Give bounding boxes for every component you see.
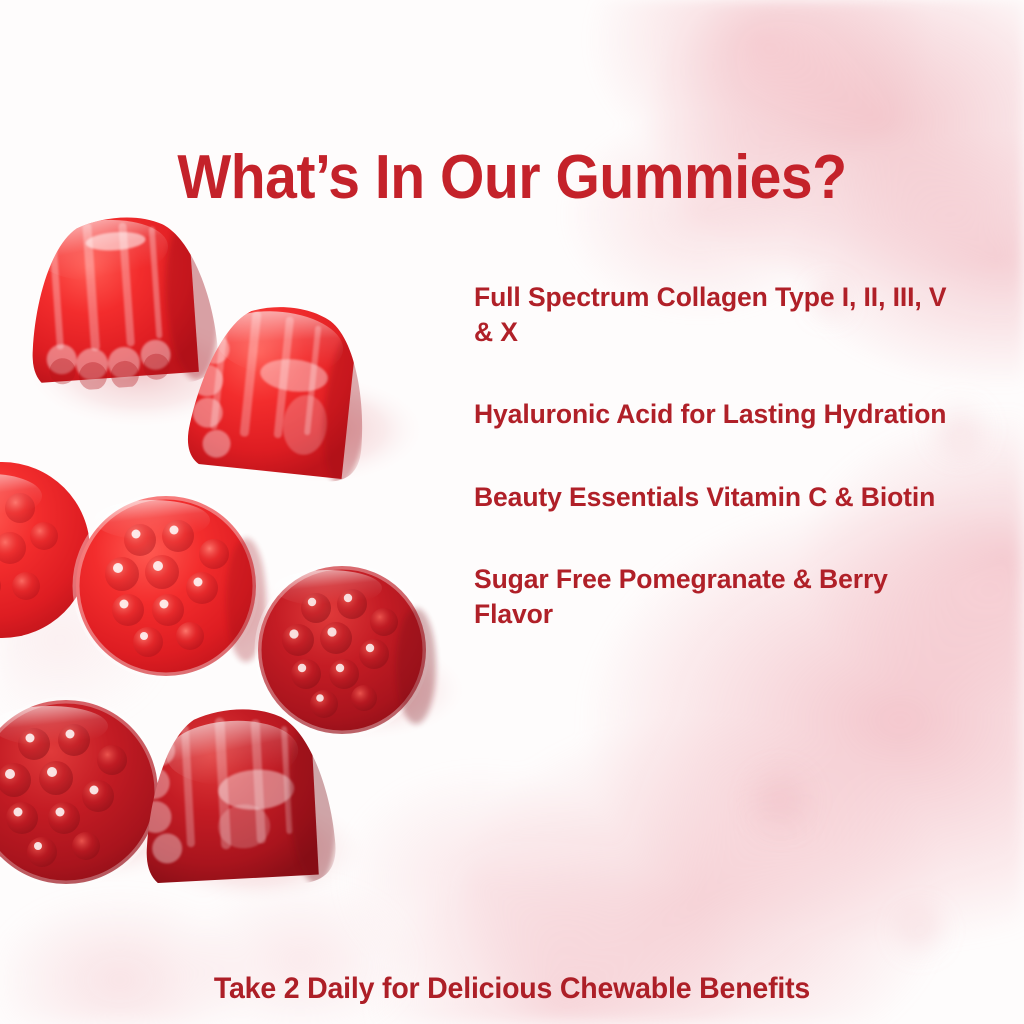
raspberry-gummy-bottom-left	[0, 700, 158, 884]
page-title: What’s In Our Gummies?	[41, 147, 983, 209]
benefits-list: Full Spectrum Collagen Type I, II, III, …	[474, 280, 974, 632]
product-graphic-canvas: What’s In Our Gummies? Full Spectrum Col…	[0, 0, 1024, 1024]
benefit-item-hyaluronic-acid: Hyaluronic Acid for Lasting Hydration	[474, 397, 959, 432]
dosage-note: Take 2 Daily for Delicious Chewable Bene…	[26, 974, 999, 1004]
raspberry-gummy-middle-right	[258, 566, 436, 734]
pomegranate-gummy-top-left	[18, 208, 224, 395]
benefit-item-vitamin-c-biotin: Beauty Essentials Vitamin C & Biotin	[474, 480, 959, 515]
benefit-item-collagen: Full Spectrum Collagen Type I, II, III, …	[474, 280, 959, 350]
benefit-item-sugar-free-flavor: Sugar Free Pomegranate & Berry Flavor	[474, 562, 959, 632]
raspberry-gummy-middle-left	[76, 496, 266, 676]
